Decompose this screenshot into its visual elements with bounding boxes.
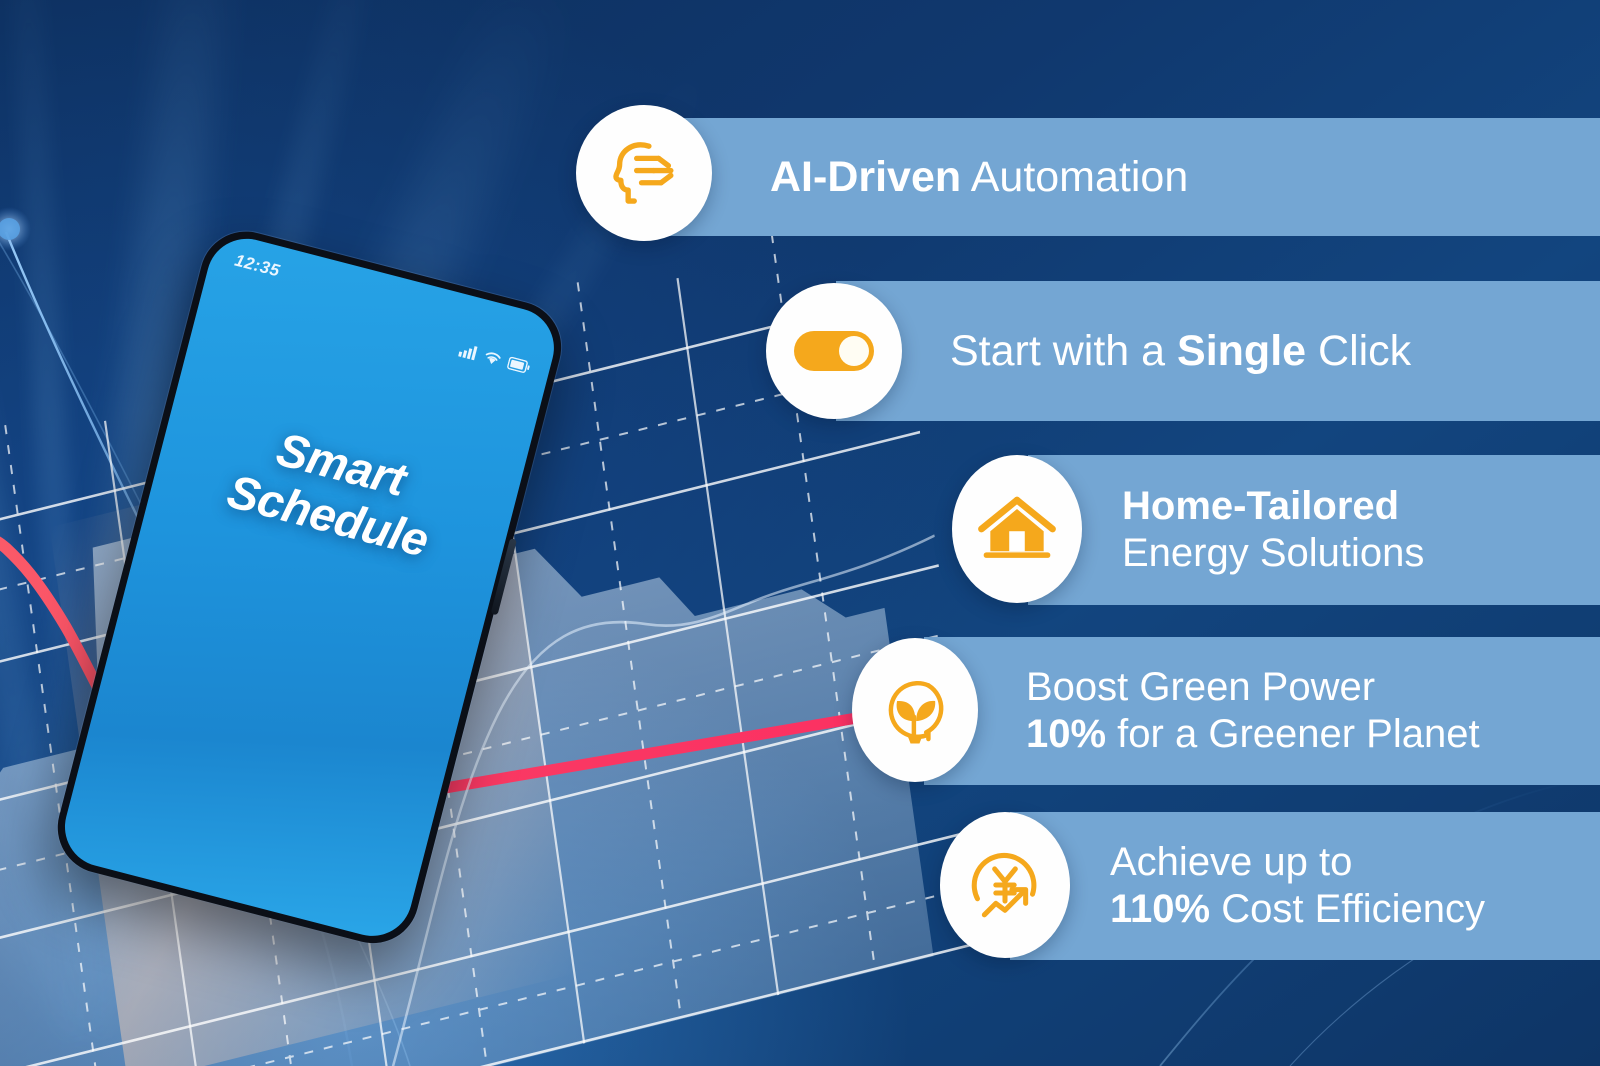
feature-text-line: 10% for a Greener Planet xyxy=(1026,711,1480,758)
phone-screen-title: Smart Schedule xyxy=(149,395,520,586)
feature-text-line: Boost Green Power xyxy=(1026,664,1480,711)
feature-text-line: 110% Cost Efficiency xyxy=(1110,886,1485,933)
feature-badge[interactable] xyxy=(576,105,712,241)
toggle-switch-on-icon[interactable] xyxy=(792,325,876,377)
feature-row-home-tailored[interactable]: Home-Tailored Energy Solutions xyxy=(952,455,1600,605)
feature-text-seg: Start with a xyxy=(950,327,1177,375)
yen-growth-icon xyxy=(966,846,1044,924)
feature-text-seg: Achieve up to xyxy=(1110,840,1352,884)
signal-icon xyxy=(458,343,479,361)
ai-head-icon xyxy=(605,134,683,212)
feature-text-seg: Boost Green Power xyxy=(1026,665,1375,709)
feature-text-seg: 110% xyxy=(1110,887,1210,931)
feature-text-seg: 10% xyxy=(1026,712,1106,756)
feature-text: Home-Tailored Energy Solutions xyxy=(1122,483,1424,577)
feature-text-seg: Click xyxy=(1306,327,1411,375)
infographic-canvas: 12:35 xyxy=(0,0,1600,1066)
battery-icon xyxy=(506,356,531,374)
home-icon xyxy=(977,493,1057,565)
feature-text-seg: Energy Solutions xyxy=(1122,531,1424,575)
status-bar-icons xyxy=(458,343,531,375)
feature-row-cost-efficiency[interactable]: Achieve up to 110% Cost Efficiency xyxy=(940,812,1600,960)
feature-text-line: AI-Driven Automation xyxy=(770,152,1188,203)
feature-badge[interactable] xyxy=(940,812,1070,958)
phone-screen: 12:35 xyxy=(56,230,562,945)
feature-badge[interactable] xyxy=(766,283,902,419)
feature-text: AI-Driven Automation xyxy=(770,152,1188,203)
feature-badge[interactable] xyxy=(852,638,978,782)
feature-text: Achieve up to 110% Cost Efficiency xyxy=(1110,839,1485,933)
feature-text-seg: Single xyxy=(1177,327,1306,375)
phone-body: 12:35 xyxy=(48,222,571,954)
wifi-icon xyxy=(482,349,503,367)
feature-text: Boost Green Power 10% for a Greener Plan… xyxy=(1026,664,1480,758)
feature-text: Start with a Single Click xyxy=(950,326,1411,377)
phone-mockup: 12:35 xyxy=(38,222,659,1015)
feature-row-single-click[interactable]: Start with a Single Click xyxy=(766,281,1600,421)
feature-text-seg: Cost Efficiency xyxy=(1210,887,1485,931)
feature-text-seg: AI-Driven xyxy=(770,153,961,201)
feature-badge[interactable] xyxy=(952,455,1082,603)
feature-text-line: Home-Tailored xyxy=(1122,483,1424,530)
status-bar-time: 12:35 xyxy=(232,251,282,282)
feature-text-seg: Home-Tailored xyxy=(1122,484,1399,528)
feature-text-line: Start with a Single Click xyxy=(950,326,1411,377)
feature-row-ai-driven-automation[interactable]: AI-Driven Automation xyxy=(576,118,1600,236)
eco-leaf-plug-icon xyxy=(877,672,953,748)
feature-text-seg: for a Greener Planet xyxy=(1106,712,1480,756)
feature-text-seg: Automation xyxy=(961,153,1188,201)
feature-row-boost-green-power[interactable]: Boost Green Power 10% for a Greener Plan… xyxy=(852,637,1600,785)
feature-text-line: Energy Solutions xyxy=(1122,530,1424,577)
feature-text-line: Achieve up to xyxy=(1110,839,1485,886)
